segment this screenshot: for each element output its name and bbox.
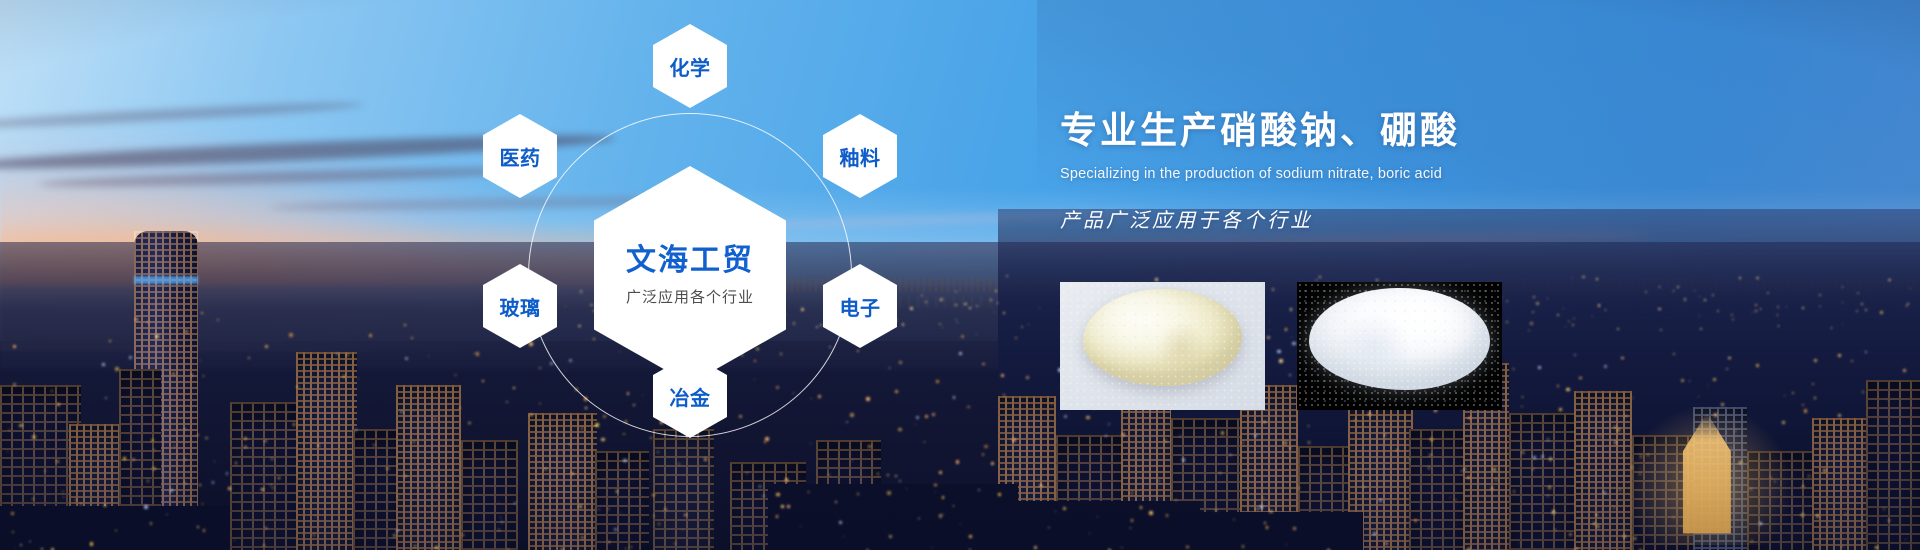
hexagon-node-label: 电子 bbox=[840, 292, 881, 321]
city-light bbox=[955, 319, 956, 320]
city-light bbox=[1632, 397, 1633, 398]
city-light bbox=[1549, 457, 1552, 460]
city-light bbox=[1841, 546, 1843, 548]
city-light bbox=[271, 458, 273, 460]
city-light bbox=[1012, 438, 1016, 442]
city-light bbox=[1376, 279, 1377, 280]
city-light bbox=[1547, 438, 1549, 440]
city-light bbox=[1619, 489, 1621, 491]
city-light bbox=[1051, 403, 1053, 405]
city-light bbox=[1614, 426, 1615, 427]
company-name: 文海工贸 bbox=[626, 244, 754, 277]
city-light bbox=[1731, 314, 1733, 316]
headline-chinese: 专业生产硝酸钠、硼酸 bbox=[1060, 100, 1820, 154]
city-light bbox=[1385, 542, 1388, 545]
city-light bbox=[1532, 311, 1534, 313]
city-light bbox=[1254, 434, 1257, 437]
city-light bbox=[1726, 368, 1728, 370]
city-light bbox=[1598, 304, 1600, 306]
city-light bbox=[1256, 508, 1258, 510]
city-light bbox=[1536, 302, 1538, 304]
city-light bbox=[1689, 380, 1690, 381]
company-tagline: 广泛应用各个行业 bbox=[626, 286, 754, 307]
city-light bbox=[990, 299, 991, 300]
city-light bbox=[1269, 510, 1273, 514]
city-light bbox=[1677, 286, 1679, 288]
city-light bbox=[1845, 513, 1846, 514]
city-light bbox=[967, 406, 969, 408]
powder-texture bbox=[1297, 282, 1502, 410]
city-light bbox=[343, 396, 344, 397]
city-light bbox=[1861, 303, 1862, 304]
powder-texture bbox=[1060, 282, 1265, 410]
city-light bbox=[984, 445, 987, 448]
city-light bbox=[144, 505, 148, 509]
headline-english: Specializing in the production of sodium… bbox=[1060, 166, 1820, 182]
city-light bbox=[1266, 526, 1268, 528]
city-light bbox=[956, 460, 959, 463]
city-light bbox=[1595, 514, 1598, 517]
city-light bbox=[1158, 480, 1160, 482]
city-light bbox=[995, 290, 997, 292]
city-light bbox=[1639, 473, 1641, 475]
city-light bbox=[1770, 477, 1772, 479]
city-light bbox=[184, 428, 186, 430]
city-light bbox=[1716, 450, 1717, 451]
city-light bbox=[400, 411, 402, 413]
city-light bbox=[1520, 543, 1521, 544]
city-light bbox=[1565, 326, 1566, 327]
city-light bbox=[248, 357, 250, 359]
city-light bbox=[969, 535, 972, 538]
city-light bbox=[63, 496, 65, 498]
city-light bbox=[1368, 412, 1371, 415]
city-light bbox=[1814, 397, 1816, 399]
city-light bbox=[1903, 369, 1906, 372]
city-light bbox=[1221, 431, 1224, 434]
city-light bbox=[1548, 486, 1551, 489]
promotional-banner: 文海工贸 广泛应用各个行业 化学 釉料 电子 冶金 玻璃 医药 专业生产硝酸钠、… bbox=[0, 0, 1920, 550]
city-light bbox=[1155, 278, 1157, 280]
city-light bbox=[608, 541, 610, 543]
foreground-roof bbox=[1190, 512, 1363, 550]
city-light bbox=[1802, 485, 1804, 487]
city-light bbox=[20, 544, 22, 546]
city-light bbox=[1506, 321, 1508, 323]
city-light bbox=[1597, 525, 1600, 528]
city-light bbox=[953, 505, 954, 506]
city-light bbox=[1242, 545, 1245, 548]
city-light bbox=[1308, 441, 1310, 443]
city-light bbox=[132, 458, 134, 460]
city-light bbox=[32, 435, 36, 439]
city-light bbox=[1640, 455, 1643, 458]
building bbox=[296, 352, 357, 550]
city-light bbox=[155, 335, 158, 338]
city-light bbox=[1063, 507, 1066, 510]
city-light bbox=[1888, 519, 1890, 521]
city-light bbox=[153, 305, 154, 306]
city-light bbox=[964, 303, 967, 306]
city-light bbox=[1559, 408, 1562, 411]
city-light bbox=[217, 319, 219, 321]
city-light bbox=[1019, 472, 1020, 473]
hexagon-node-glaze[interactable]: 釉料 bbox=[823, 114, 897, 198]
city-light bbox=[1599, 435, 1601, 437]
city-light bbox=[1131, 492, 1133, 494]
city-light bbox=[1233, 519, 1234, 520]
city-light bbox=[1673, 290, 1674, 291]
headline-block: 专业生产硝酸钠、硼酸 Specializing in the productio… bbox=[1060, 100, 1820, 233]
city-light bbox=[1385, 440, 1386, 441]
city-light bbox=[1842, 324, 1843, 325]
city-light bbox=[1732, 319, 1733, 320]
city-light bbox=[1455, 499, 1456, 500]
city-light bbox=[1533, 456, 1535, 458]
city-light bbox=[413, 411, 414, 412]
city-light bbox=[1687, 502, 1689, 504]
city-light bbox=[115, 530, 117, 532]
city-light bbox=[1623, 535, 1625, 537]
building bbox=[1812, 418, 1873, 550]
city-light bbox=[955, 304, 957, 306]
city-light bbox=[1055, 511, 1056, 512]
city-light bbox=[1513, 490, 1515, 492]
city-light bbox=[1714, 413, 1717, 416]
city-light bbox=[1541, 455, 1544, 458]
city-light bbox=[1774, 481, 1775, 482]
city-light bbox=[7, 451, 8, 452]
city-light bbox=[1814, 359, 1817, 362]
foreground-roof bbox=[1008, 501, 1200, 550]
city-light bbox=[1704, 299, 1706, 301]
industry-hexagon-diagram: 文海工贸 广泛应用各个行业 化学 釉料 电子 冶金 玻璃 医药 bbox=[430, 18, 950, 532]
city-light bbox=[325, 354, 326, 355]
city-light bbox=[1284, 441, 1287, 444]
product-photo-row bbox=[1060, 282, 1502, 410]
city-light bbox=[1039, 307, 1040, 308]
city-light bbox=[1808, 475, 1810, 477]
city-light bbox=[435, 546, 438, 549]
city-light bbox=[19, 424, 23, 428]
city-light bbox=[1319, 276, 1321, 278]
building bbox=[1509, 413, 1578, 550]
city-light bbox=[931, 547, 932, 548]
city-light bbox=[1831, 327, 1833, 329]
city-light bbox=[1026, 376, 1029, 379]
tagline-chinese: 产品广泛应用于各个行业 bbox=[1060, 204, 1820, 233]
city-light bbox=[1804, 409, 1807, 412]
hexagon-node-pharmaceutical[interactable]: 医药 bbox=[483, 114, 557, 198]
city-light bbox=[265, 527, 266, 528]
city-light bbox=[150, 522, 152, 524]
city-light bbox=[44, 470, 46, 472]
city-light bbox=[278, 477, 279, 478]
city-light bbox=[129, 356, 132, 359]
tower-blue-band bbox=[134, 276, 197, 284]
city-light bbox=[265, 345, 268, 348]
city-light bbox=[1003, 312, 1005, 314]
city-light bbox=[1812, 383, 1814, 385]
city-light bbox=[1086, 416, 1089, 419]
city-light bbox=[185, 330, 188, 333]
city-light bbox=[12, 531, 14, 533]
city-light bbox=[205, 437, 207, 439]
city-light bbox=[147, 321, 149, 323]
city-light bbox=[1755, 304, 1757, 306]
city-light bbox=[413, 441, 415, 443]
city-light bbox=[1751, 540, 1753, 542]
city-light bbox=[135, 318, 138, 321]
city-light bbox=[1373, 532, 1376, 535]
city-light bbox=[1298, 487, 1300, 489]
city-light bbox=[1647, 454, 1649, 456]
city-light bbox=[1557, 314, 1558, 315]
city-light bbox=[1554, 529, 1556, 531]
city-light bbox=[998, 493, 1001, 496]
building bbox=[1866, 380, 1920, 550]
city-light bbox=[1532, 468, 1534, 470]
city-light bbox=[272, 487, 274, 489]
city-light bbox=[969, 307, 971, 309]
city-light bbox=[343, 375, 346, 378]
city-light bbox=[1604, 365, 1607, 368]
city-light bbox=[184, 459, 185, 460]
city-light bbox=[889, 535, 892, 538]
city-light bbox=[1579, 377, 1581, 379]
city-light bbox=[1149, 511, 1152, 514]
city-light bbox=[1264, 522, 1266, 524]
city-light bbox=[1614, 441, 1617, 444]
city-light bbox=[1566, 388, 1570, 392]
city-light bbox=[1186, 546, 1188, 548]
city-light bbox=[1464, 468, 1465, 469]
city-light bbox=[1528, 330, 1529, 331]
hexagon-node-label: 冶金 bbox=[670, 382, 711, 411]
city-light bbox=[1792, 392, 1794, 394]
city-light bbox=[197, 526, 199, 528]
city-light bbox=[1108, 423, 1110, 425]
city-light bbox=[1739, 461, 1741, 463]
city-light bbox=[1759, 522, 1762, 525]
city-light bbox=[1756, 277, 1758, 279]
city-light bbox=[189, 499, 190, 500]
city-light bbox=[235, 462, 236, 463]
product-photo-boric-acid bbox=[1297, 282, 1502, 410]
city-light bbox=[1605, 309, 1607, 311]
city-light bbox=[123, 457, 126, 460]
city-light bbox=[1673, 353, 1675, 355]
city-light bbox=[1617, 428, 1620, 431]
hexagon-node-chemistry[interactable]: 化学 bbox=[653, 24, 727, 108]
city-light bbox=[1865, 351, 1867, 353]
city-light bbox=[997, 302, 999, 304]
city-light bbox=[1354, 419, 1356, 421]
city-light bbox=[90, 542, 93, 545]
city-light bbox=[317, 444, 320, 447]
city-light bbox=[1006, 404, 1007, 405]
city-light bbox=[1572, 324, 1574, 326]
city-light bbox=[581, 536, 584, 539]
city-light bbox=[289, 333, 292, 336]
city-light bbox=[1530, 322, 1533, 325]
city-light bbox=[1802, 404, 1804, 406]
city-light bbox=[214, 461, 215, 462]
city-light bbox=[1659, 286, 1660, 287]
city-light bbox=[197, 434, 199, 436]
city-light bbox=[1130, 527, 1131, 528]
city-light bbox=[1801, 513, 1804, 516]
city-light bbox=[1522, 451, 1524, 453]
hexagon-node-label: 玻璃 bbox=[500, 292, 541, 321]
city-light bbox=[1533, 296, 1534, 297]
city-light bbox=[1625, 415, 1627, 417]
city-light bbox=[75, 499, 77, 501]
city-light bbox=[234, 540, 235, 541]
city-light bbox=[261, 488, 264, 491]
city-light bbox=[315, 516, 317, 518]
city-light bbox=[1379, 499, 1382, 502]
city-light bbox=[1428, 467, 1430, 469]
foreground-roof bbox=[0, 506, 230, 550]
city-light bbox=[386, 467, 389, 470]
hexagon-node-label: 釉料 bbox=[840, 142, 881, 171]
city-light bbox=[1728, 357, 1730, 359]
city-light bbox=[1468, 417, 1470, 419]
city-light bbox=[1631, 466, 1634, 469]
city-light bbox=[982, 363, 984, 365]
city-light bbox=[1308, 425, 1309, 426]
product-photo-sodium-nitrate bbox=[1060, 282, 1265, 410]
building bbox=[1409, 429, 1467, 550]
city-light bbox=[1467, 476, 1470, 479]
city-light bbox=[1756, 364, 1759, 367]
background-cityscape bbox=[0, 0, 1920, 550]
city-light bbox=[1905, 539, 1906, 540]
city-light bbox=[1557, 385, 1559, 387]
city-light bbox=[1430, 438, 1433, 441]
city-light bbox=[313, 534, 315, 536]
city-light bbox=[1293, 527, 1296, 530]
city-light bbox=[1816, 514, 1820, 518]
city-light bbox=[1721, 403, 1724, 406]
city-light bbox=[397, 496, 399, 498]
city-light bbox=[1694, 290, 1695, 291]
city-light bbox=[1003, 394, 1004, 395]
city-light bbox=[1755, 310, 1757, 312]
city-light bbox=[1166, 514, 1169, 517]
hexagon-node-label: 化学 bbox=[670, 52, 711, 81]
city-light bbox=[991, 462, 994, 465]
city-light bbox=[994, 312, 995, 313]
city-light bbox=[1777, 314, 1778, 315]
city-light bbox=[1596, 278, 1598, 280]
city-light bbox=[1698, 396, 1699, 397]
city-light bbox=[355, 429, 357, 431]
city-light bbox=[202, 503, 204, 505]
city-light bbox=[1493, 468, 1496, 471]
city-light bbox=[1038, 479, 1039, 480]
city-light bbox=[1634, 537, 1636, 539]
city-light bbox=[404, 475, 406, 477]
hexagon-node-label: 医药 bbox=[500, 142, 541, 171]
city-light bbox=[1713, 378, 1716, 381]
city-light bbox=[115, 367, 119, 371]
city-light bbox=[414, 545, 416, 547]
city-light bbox=[51, 390, 53, 392]
city-light bbox=[1823, 469, 1826, 472]
city-light bbox=[955, 291, 956, 292]
city-light bbox=[1658, 308, 1660, 310]
